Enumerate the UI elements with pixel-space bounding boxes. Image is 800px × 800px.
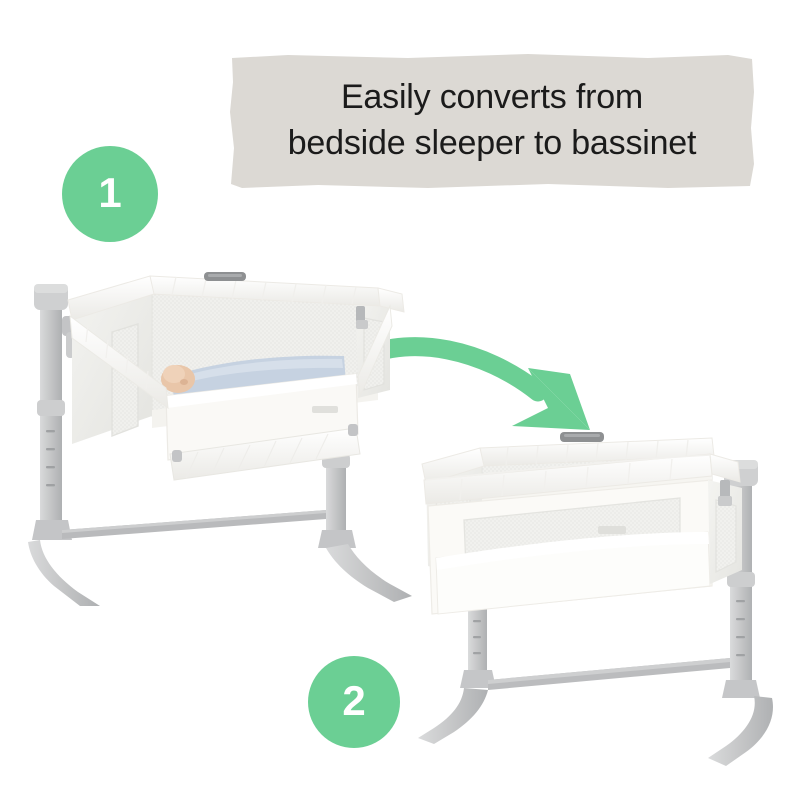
product-bedside-sleeper <box>26 258 418 606</box>
product-bassinet <box>412 418 788 770</box>
bedside-sleeper-illustration <box>26 258 418 606</box>
headline-line-2: bedside sleeper to bassinet <box>288 122 697 166</box>
step-1-description: Bedside sleeper with front wall folded d… <box>0 0 1 1</box>
bassinet-brand-tag <box>598 526 626 534</box>
headline-banner: Easily converts from bedside sleeper to … <box>228 52 756 190</box>
bassinet-strap-buckle <box>718 480 732 506</box>
headline-text: Easily converts from bedside sleeper to … <box>228 52 756 190</box>
sleeper-brand-tag <box>312 406 338 413</box>
bassinet-top-rail-right <box>710 454 740 482</box>
sleeper-basket <box>68 272 404 480</box>
bassinet-basket <box>422 432 742 614</box>
step-badge-2: 2 <box>308 656 400 748</box>
infographic-canvas: Easily converts from bedside sleeper to … <box>0 0 800 800</box>
step-badge-1: 1 <box>62 146 158 242</box>
headline-line-1: Easily converts from <box>341 76 643 120</box>
step-2-description: Fully enclosed bassinet with all four me… <box>0 0 1 1</box>
step-badge-2-number: 2 <box>342 680 365 722</box>
bassinet-illustration <box>412 418 788 770</box>
step-badge-1-number: 1 <box>98 172 121 214</box>
